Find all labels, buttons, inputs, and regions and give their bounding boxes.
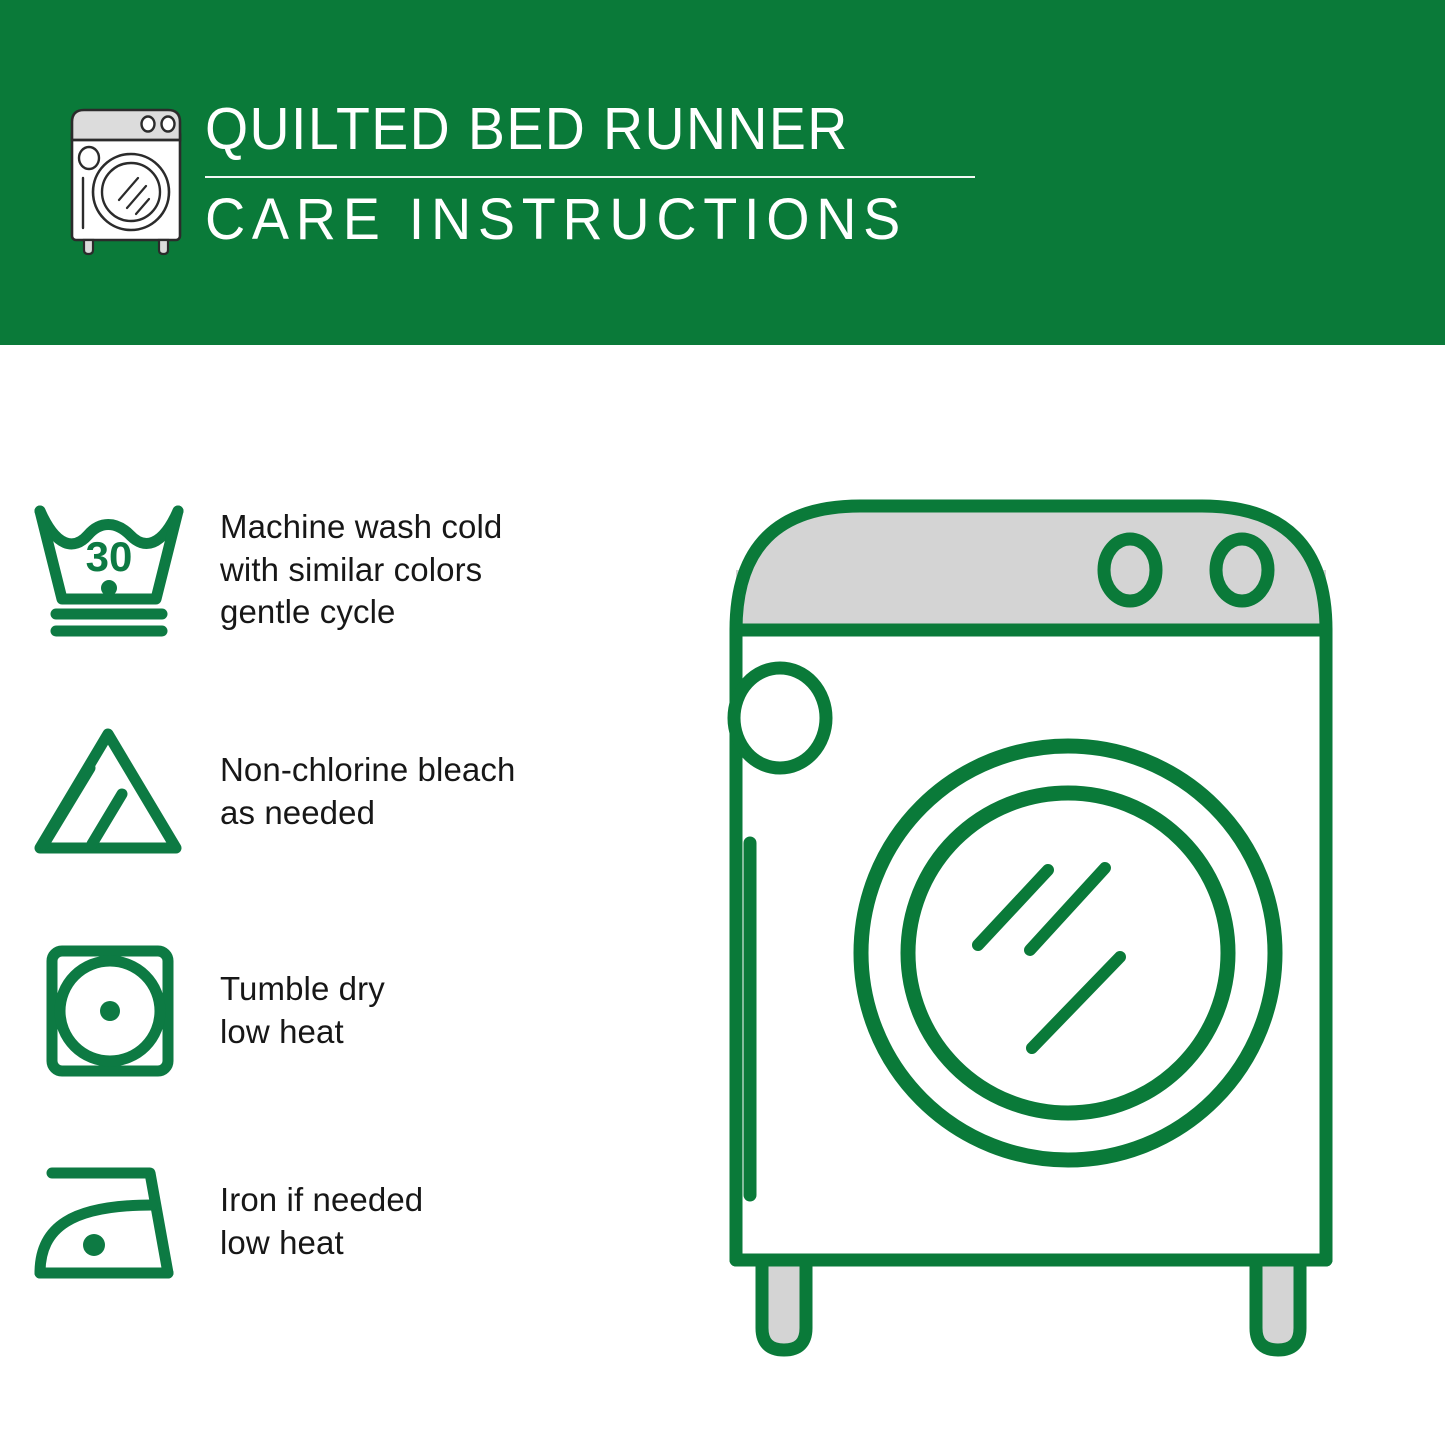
care-text-tumble-dry: Tumble dry low heat xyxy=(220,968,385,1054)
page-subtitle: CARE INSTRUCTIONS xyxy=(205,188,963,253)
care-text-iron: Iron if needed low heat xyxy=(220,1179,423,1265)
care-text-machine-wash: Machine wash cold with similar colors ge… xyxy=(220,506,502,635)
care-instructions-page: QUILTED BED RUNNER CARE INSTRUCTIONS xyxy=(0,0,1445,1445)
care-line: as needed xyxy=(220,792,515,835)
care-line: with similar colors xyxy=(220,549,502,592)
door-glass-streaks xyxy=(978,868,1120,1048)
leg-left xyxy=(762,1260,806,1350)
care-row-bleach: Non-chlorine bleach as needed xyxy=(0,712,640,872)
care-line: Machine wash cold xyxy=(220,506,502,549)
door-inner-ring xyxy=(908,793,1228,1113)
non-chlorine-bleach-symbol xyxy=(0,712,220,872)
care-row-iron: Iron if needed low heat xyxy=(0,1142,640,1302)
wash-temperature-label: 30 xyxy=(86,533,133,580)
leg-right xyxy=(1256,1260,1300,1350)
care-line: Iron if needed xyxy=(220,1179,423,1222)
care-line: low heat xyxy=(220,1222,423,1265)
care-line: Tumble dry xyxy=(220,968,385,1011)
title-divider xyxy=(205,176,975,178)
knob-right xyxy=(1216,539,1268,601)
door-outer-ring xyxy=(861,746,1275,1160)
washing-machine-icon xyxy=(62,104,190,256)
iron-low-heat-symbol xyxy=(0,1142,220,1302)
care-row-tumble-dry: Tumble dry low heat xyxy=(0,931,640,1091)
care-text-bleach: Non-chlorine bleach as needed xyxy=(220,749,515,835)
care-instructions-list: 30 Machine wash cold with similar colors… xyxy=(0,345,660,1445)
tumble-dry-low-symbol xyxy=(0,931,220,1091)
care-line: Non-chlorine bleach xyxy=(220,749,515,792)
large-washing-machine-illustration xyxy=(700,470,1420,1380)
header-text-block: QUILTED BED RUNNER CARE INSTRUCTIONS xyxy=(205,96,995,253)
care-line: gentle cycle xyxy=(220,591,502,634)
care-line: low heat xyxy=(220,1011,385,1054)
page-title: QUILTED BED RUNNER xyxy=(205,96,948,162)
detergent-dispenser xyxy=(734,668,826,768)
knob-left xyxy=(1104,539,1156,601)
header-banner: QUILTED BED RUNNER CARE INSTRUCTIONS xyxy=(0,0,1445,345)
care-row-machine-wash: 30 Machine wash cold with similar colors… xyxy=(0,490,640,650)
machine-wash-30-gentle-symbol: 30 xyxy=(0,490,220,650)
